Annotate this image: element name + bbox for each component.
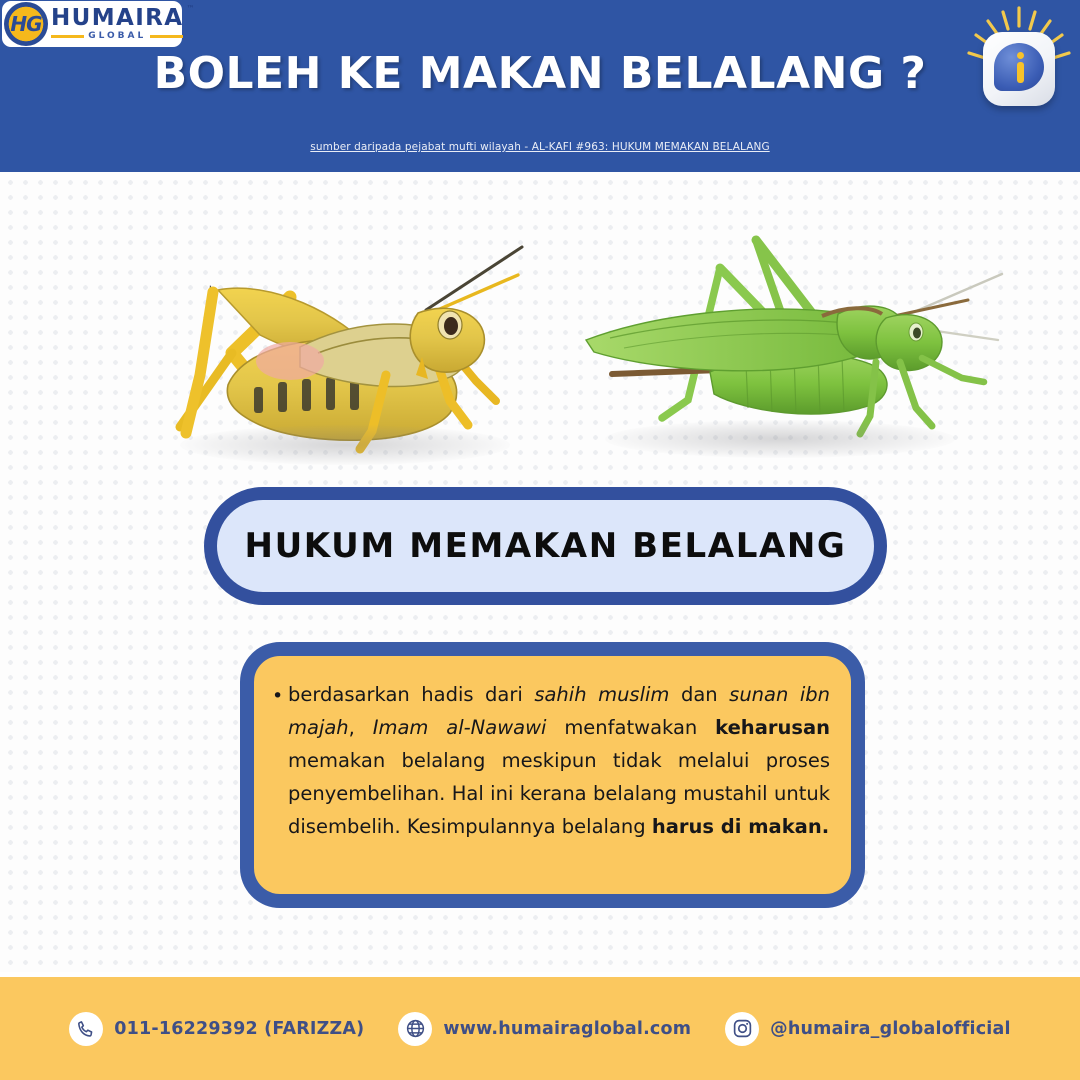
list-item: • berdasarkan hadis dari sahih muslim da… [272,678,830,843]
section-title-text: HUKUM MEMAKAN BELALANG [245,526,847,566]
instagram-icon [725,1012,759,1046]
info-letter-dot [1017,52,1024,59]
content-paragraph: berdasarkan hadis dari sahih muslim dan … [288,678,830,843]
logo-rule-right [150,35,183,38]
contact-website[interactable]: www.humairaglobal.com [398,1012,691,1046]
page-title: BOLEH KE MAKAN BELALANG ? [0,48,1080,99]
yellow-grasshopper-shadow [180,425,510,465]
source-credit: sumber daripada pejabat mufti wilayah - … [0,141,1080,153]
phone-icon [69,1012,103,1046]
green-grasshopper-shadow [605,420,955,458]
logo-trademark-mark: ™ [186,5,194,13]
contact-instagram-label: @humaira_globalofficial [770,1019,1011,1039]
globe-icon [398,1012,432,1046]
content-card: • berdasarkan hadis dari sahih muslim da… [240,642,865,908]
info-square-plate [983,32,1055,106]
info-speech-bubble-icon [994,43,1044,91]
logo-badge-icon: HG [4,2,48,46]
logo-main-label: HUMAIRA [51,5,183,31]
info-letter-stem [1017,62,1024,83]
logo-sub-label: GLOBAL [88,32,146,41]
footer-contact-bar: 011-16229392 (FARIZZA) www.humairaglobal… [0,977,1080,1080]
contact-website-label: www.humairaglobal.com [443,1019,691,1039]
logo-rule-left [51,35,84,38]
contact-phone[interactable]: 011-16229392 (FARIZZA) [69,1012,364,1046]
green-grasshopper-image [570,222,1015,472]
logo-monogram: HG [4,2,48,46]
brand-logo: HG HUMAIRA™ GLOBAL [2,1,182,47]
bullet-marker: • [272,680,283,713]
header-bar: HG HUMAIRA™ GLOBAL BOLEH KE MAKAN BELALA… [0,0,1080,172]
contact-phone-label: 011-16229392 (FARIZZA) [114,1019,364,1039]
section-title-banner: HUKUM MEMAKAN BELALANG [204,487,887,605]
info-icon [963,6,1075,118]
poster-canvas: HG HUMAIRA™ GLOBAL BOLEH KE MAKAN BELALA… [0,0,1080,1080]
yellow-grasshopper-image [150,235,540,480]
contact-instagram[interactable]: @humaira_globalofficial [725,1012,1011,1046]
logo-wordmark: HUMAIRA™ GLOBAL [51,7,183,41]
logo-main-text: HUMAIRA™ [51,7,183,30]
logo-sub-row: GLOBAL [51,32,183,41]
